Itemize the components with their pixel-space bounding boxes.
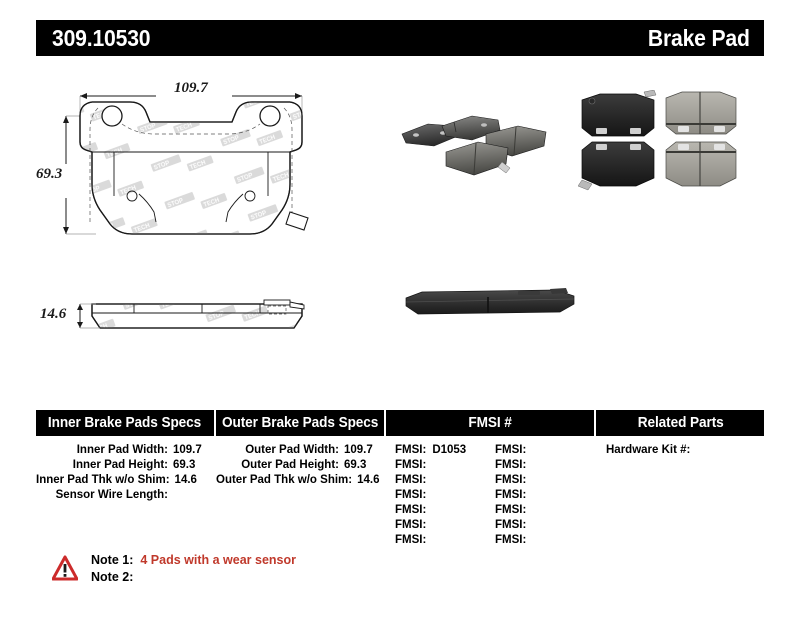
fmsi-label: FMSI: — [395, 534, 426, 546]
fmsi-value — [426, 489, 432, 501]
fmsi-value — [426, 504, 432, 516]
fmsi-row: FMSI: — [395, 518, 495, 533]
spec-value — [168, 488, 214, 503]
fmsi-label: FMSI: — [395, 459, 426, 471]
fmsi-row: FMSI: — [495, 533, 595, 548]
spec-label: Inner Pad Height: — [36, 458, 168, 473]
column-header-fmsi: FMSI # — [386, 410, 594, 436]
fmsi-value — [526, 474, 532, 486]
note-1-row: Note 1:4 Pads with a wear sensor — [91, 552, 296, 569]
fmsi-value — [526, 459, 532, 471]
outer-specs-column: Outer Pad Width: 109.7 Outer Pad Height:… — [216, 443, 385, 548]
pad-front-view — [76, 98, 308, 238]
fmsi-value — [426, 519, 432, 531]
fmsi-row: FMSI: — [395, 458, 495, 473]
spec-value: 14.6 — [352, 473, 385, 488]
spec-row: Inner Pad Thk w/o Shim: 14.6 — [36, 473, 214, 488]
spec-label: Inner Pad Thk w/o Shim: — [36, 473, 170, 488]
spec-label: Sensor Wire Length: — [36, 488, 168, 503]
spec-label: Outer Pad Height: — [216, 458, 339, 473]
spec-row: Outer Pad Width: 109.7 — [216, 443, 385, 458]
spec-row: Sensor Wire Length: — [36, 488, 214, 503]
inner-specs-column: Inner Pad Width: 109.7 Inner Pad Height:… — [36, 443, 214, 548]
thickness-dimension-label: 14.6 — [40, 306, 66, 323]
header-bar: 309.10530 Brake Pad — [36, 20, 764, 56]
product-type: Brake Pad — [648, 25, 750, 52]
spec-row: Outer Pad Height: 69.3 — [216, 458, 385, 473]
fmsi-label: FMSI: — [495, 504, 526, 516]
note-1-label: Note 1: — [91, 553, 133, 567]
spec-row: Inner Pad Width: 109.7 — [36, 443, 214, 458]
fmsi-value — [426, 534, 432, 546]
fmsi-label: FMSI: — [395, 489, 426, 501]
fmsi-row: FMSI:D1053 — [395, 443, 495, 458]
technical-drawing: STOP TECH — [36, 72, 388, 372]
brake-pad-dimension-drawing: STOP TECH — [36, 72, 388, 372]
column-header-inner-specs: Inner Brake Pads Specs — [36, 410, 214, 436]
spec-row: Outer Pad Thk w/o Shim: 14.6 — [216, 473, 385, 488]
fmsi-value — [526, 519, 532, 531]
fmsi-value — [526, 444, 532, 456]
fmsi-label: FMSI: — [495, 534, 526, 546]
table-header-row: Inner Brake Pads Specs Outer Brake Pads … — [36, 410, 764, 436]
fmsi-row: FMSI: — [395, 488, 495, 503]
column-header-outer-specs: Outer Brake Pads Specs — [216, 410, 385, 436]
fmsi-row: FMSI: — [395, 533, 495, 548]
fmsi-row: FMSI: — [495, 443, 595, 458]
spec-value: 69.3 — [168, 458, 214, 473]
spec-value: 109.7 — [339, 443, 385, 458]
fmsi-value — [526, 504, 532, 516]
fmsi-label: FMSI: — [495, 489, 526, 501]
fmsi-value — [426, 474, 432, 486]
spec-row: Inner Pad Height: 69.3 — [36, 458, 214, 473]
fmsi-subcolumn-left: FMSI:D1053 FMSI: FMSI: FMSI: FMSI: — [395, 443, 495, 548]
note-2-row: Note 2: — [91, 569, 296, 586]
fmsi-row: FMSI: — [395, 473, 495, 488]
wear-sensor-tab — [286, 212, 308, 230]
table-body: Inner Pad Width: 109.7 Inner Pad Height:… — [36, 436, 764, 548]
spec-label: Outer Pad Width: — [216, 443, 339, 458]
fmsi-label: FMSI: — [495, 444, 526, 456]
spec-value: 69.3 — [339, 458, 385, 473]
related-parts-column: Hardware Kit #: — [597, 443, 764, 548]
pad-side-view — [86, 300, 316, 336]
fmsi-value — [526, 534, 532, 546]
fmsi-row: FMSI: — [495, 488, 595, 503]
fmsi-value — [426, 459, 432, 471]
spec-value: 14.6 — [170, 473, 214, 488]
fmsi-row: FMSI: — [495, 473, 595, 488]
angled-four-pads-photo — [398, 96, 568, 186]
warning-triangle-icon — [52, 554, 78, 584]
fmsi-row: FMSI: — [495, 503, 595, 518]
spec-value: 109.7 — [168, 443, 214, 458]
height-dimension-label: 69.3 — [36, 166, 62, 183]
column-header-related-parts: Related Parts — [596, 410, 764, 436]
fmsi-label: FMSI: — [395, 519, 426, 531]
fmsi-value — [526, 489, 532, 501]
specifications-table: Inner Brake Pads Specs Outer Brake Pads … — [36, 410, 764, 548]
fmsi-label: FMSI: — [495, 459, 526, 471]
fmsi-value: D1053 — [426, 444, 466, 456]
spec-label: Outer Pad Thk w/o Shim: — [216, 473, 352, 488]
part-number: 309.10530 — [52, 25, 150, 52]
spec-label: Inner Pad Width: — [36, 443, 168, 458]
fmsi-row: FMSI: — [495, 518, 595, 533]
pad-edge-view-photo — [400, 284, 580, 324]
related-part-label: Hardware Kit #: — [606, 444, 690, 456]
fmsi-label: FMSI: — [395, 444, 426, 456]
notes-section: Note 1:4 Pads with a wear sensor Note 2: — [52, 552, 296, 586]
note-2-label: Note 2: — [91, 570, 133, 584]
related-part-row: Hardware Kit #: — [597, 443, 764, 458]
width-dimension-label: 109.7 — [174, 80, 208, 97]
fmsi-column: FMSI:D1053 FMSI: FMSI: FMSI: FMSI: — [387, 443, 595, 548]
fmsi-row: FMSI: — [395, 503, 495, 518]
fmsi-label: FMSI: — [495, 474, 526, 486]
four-pads-grid-photo — [578, 90, 742, 198]
fmsi-row: FMSI: — [495, 458, 595, 473]
fmsi-label: FMSI: — [395, 474, 426, 486]
note-1-value: 4 Pads with a wear sensor — [140, 553, 296, 567]
fmsi-label: FMSI: — [495, 519, 526, 531]
fmsi-subcolumn-right: FMSI: FMSI: FMSI: FMSI: FMSI: — [495, 443, 595, 548]
fmsi-label: FMSI: — [395, 504, 426, 516]
